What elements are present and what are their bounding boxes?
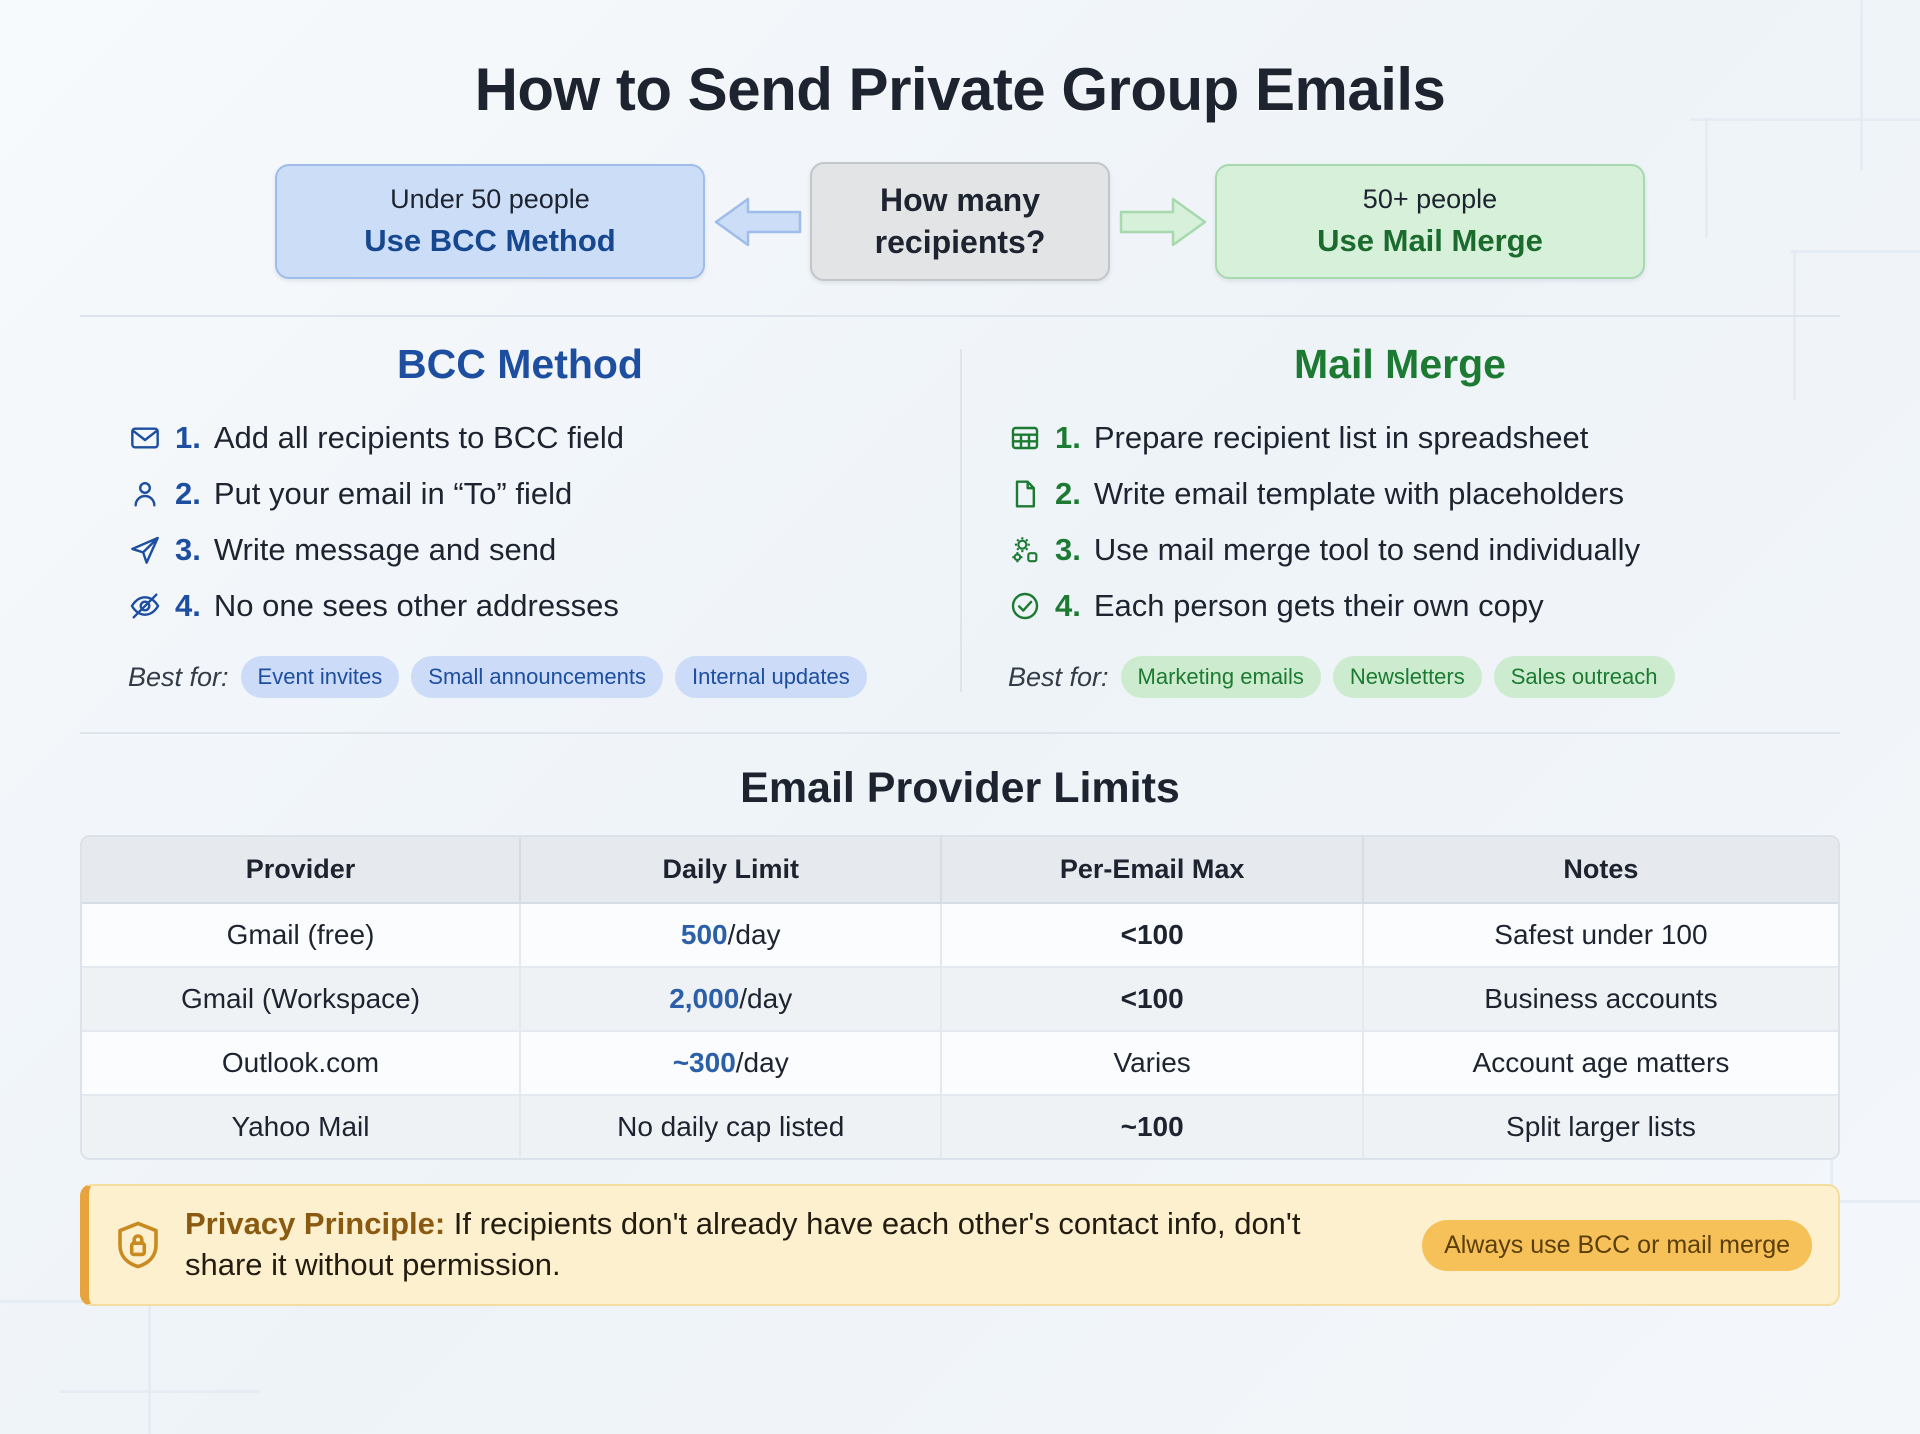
- divider-bottom: [80, 732, 1840, 734]
- cell-provider: Yahoo Mail: [82, 1096, 521, 1158]
- privacy-principle-lead: Privacy Principle:: [185, 1206, 445, 1241]
- privacy-principle-text: Privacy Principle: If recipients don't a…: [185, 1204, 1402, 1286]
- mailmerge-step-4-number: 4.: [1055, 588, 1081, 624]
- cell-provider: Gmail (Workspace): [82, 968, 521, 1032]
- bcc-step-3-number: 3.: [175, 532, 201, 568]
- mailmerge-step-1: 1. Prepare recipient list in spreadsheet: [1008, 410, 1818, 466]
- cell-notes: Split larger lists: [1364, 1096, 1838, 1158]
- gears-icon: [1008, 533, 1042, 567]
- document-icon: [1008, 477, 1042, 511]
- cell-per-email-max: Varies: [942, 1032, 1363, 1096]
- cell-daily-value: ~300: [673, 1047, 736, 1078]
- flow-option-bcc: Under 50 people Use BCC Method: [275, 164, 705, 278]
- methods-section: BCC Method 1. Add all recipients to BCC …: [80, 341, 1840, 698]
- table-header-row: Provider Daily Limit Per-Email Max Notes: [82, 837, 1838, 904]
- mailmerge-method-column: Mail Merge 1. Prepare recipient list in …: [960, 341, 1840, 698]
- flow-option-mailmerge-condition: 50+ people: [1243, 182, 1617, 217]
- methods-vertical-divider: [960, 349, 962, 692]
- envelope-icon: [128, 421, 162, 455]
- arrow-right-wrap: [1110, 192, 1215, 252]
- mailmerge-step-2: 2. Write email template with placeholder…: [1008, 466, 1818, 522]
- bcc-chip-1: Event invites: [241, 656, 400, 698]
- mailmerge-step-2-text: Write email template with placeholders: [1094, 476, 1624, 512]
- bcc-chip-2: Small announcements: [411, 656, 663, 698]
- flow-question-line1: How many: [838, 180, 1082, 222]
- bcc-step-1: 1. Add all recipients to BCC field: [128, 410, 938, 466]
- mailmerge-best-for: Best for: Marketing emails Newsletters S…: [982, 656, 1818, 698]
- table-header-per-email-max: Per-Email Max: [942, 837, 1363, 904]
- table-header: Provider Daily Limit Per-Email Max Notes: [82, 837, 1838, 904]
- mailmerge-chip-2: Newsletters: [1333, 656, 1482, 698]
- table-header-provider: Provider: [82, 837, 521, 904]
- send-icon: [128, 533, 162, 567]
- cell-daily-value: 2,000: [669, 983, 739, 1014]
- cell-daily-limit: ~300/day: [521, 1032, 942, 1096]
- table-header-daily-limit: Daily Limit: [521, 837, 942, 904]
- mailmerge-step-1-number: 1.: [1055, 420, 1081, 456]
- bcc-step-1-number: 1.: [175, 420, 201, 456]
- cell-daily-suffix: /day: [739, 983, 792, 1014]
- mailmerge-step-4: 4. Each person gets their own copy: [1008, 578, 1818, 634]
- table-header-notes: Notes: [1364, 837, 1838, 904]
- table-row: Gmail (Workspace) 2,000/day <100 Busines…: [82, 968, 1838, 1032]
- person-icon: [128, 477, 162, 511]
- shield-lock-icon: [111, 1218, 165, 1272]
- bcc-heading: BCC Method: [102, 341, 938, 388]
- cell-daily-suffix: /day: [736, 1047, 789, 1078]
- decorative-line: [60, 1390, 260, 1393]
- table-row: Gmail (free) 500/day <100 Safest under 1…: [82, 904, 1838, 968]
- flow-question-line2: recipients?: [838, 222, 1082, 264]
- cell-daily-limit: 2,000/day: [521, 968, 942, 1032]
- bcc-step-2: 2. Put your email in “To” field: [128, 466, 938, 522]
- bcc-step-4: 4. No one sees other addresses: [128, 578, 938, 634]
- flow-option-mailmerge: 50+ people Use Mail Merge: [1215, 164, 1645, 278]
- flow-question: How many recipients?: [810, 162, 1110, 281]
- cell-provider: Gmail (free): [82, 904, 521, 968]
- cell-daily-suffix: /day: [728, 919, 781, 950]
- arrow-left-icon: [710, 192, 806, 252]
- bcc-step-1-text: Add all recipients to BCC field: [214, 420, 624, 456]
- cell-daily-limit: 500/day: [521, 904, 942, 968]
- bcc-step-3-text: Write message and send: [214, 532, 556, 568]
- bcc-step-4-number: 4.: [175, 588, 201, 624]
- cell-per-email-max: <100: [942, 904, 1363, 968]
- bcc-chip-3: Internal updates: [675, 656, 867, 698]
- cell-daily-limit: No daily cap listed: [521, 1096, 942, 1158]
- arrow-right-icon: [1115, 192, 1211, 252]
- cell-notes: Safest under 100: [1364, 904, 1838, 968]
- cell-per-email-max: <100: [942, 968, 1363, 1032]
- flow-option-bcc-action: Use BCC Method: [303, 221, 677, 261]
- divider-top: [80, 315, 1840, 317]
- decision-flow: Under 50 people Use BCC Method How many …: [80, 162, 1840, 281]
- mailmerge-step-3-number: 3.: [1055, 532, 1081, 568]
- privacy-principle-banner: Privacy Principle: If recipients don't a…: [80, 1184, 1840, 1306]
- mailmerge-heading: Mail Merge: [982, 341, 1818, 388]
- provider-limits-table: Provider Daily Limit Per-Email Max Notes…: [80, 835, 1840, 1160]
- cell-notes: Business accounts: [1364, 968, 1838, 1032]
- cell-per-email-max: ~100: [942, 1096, 1363, 1158]
- cell-daily-value: 500: [681, 919, 728, 950]
- mailmerge-step-4-text: Each person gets their own copy: [1094, 588, 1544, 624]
- table-row: Outlook.com ~300/day Varies Account age …: [82, 1032, 1838, 1096]
- decorative-line: [148, 1300, 151, 1434]
- bcc-step-3: 3. Write message and send: [128, 522, 938, 578]
- bcc-method-column: BCC Method 1. Add all recipients to BCC …: [80, 341, 960, 698]
- eye-off-icon: [128, 589, 162, 623]
- mailmerge-step-2-number: 2.: [1055, 476, 1081, 512]
- infographic-page: How to Send Private Group Emails Under 5…: [0, 0, 1920, 1434]
- table-body: Gmail (free) 500/day <100 Safest under 1…: [82, 904, 1838, 1158]
- mailmerge-step-3-text: Use mail merge tool to send individually: [1094, 532, 1640, 568]
- mailmerge-step-1-text: Prepare recipient list in spreadsheet: [1094, 420, 1589, 456]
- privacy-principle-pill: Always use BCC or mail merge: [1422, 1220, 1812, 1271]
- page-title: How to Send Private Group Emails: [80, 0, 1840, 124]
- bcc-step-4-text: No one sees other addresses: [214, 588, 619, 624]
- cell-provider: Outlook.com: [82, 1032, 521, 1096]
- flow-option-mailmerge-action: Use Mail Merge: [1243, 221, 1617, 261]
- bcc-step-2-text: Put your email in “To” field: [214, 476, 572, 512]
- bcc-steps-list: 1. Add all recipients to BCC field 2. Pu…: [102, 410, 938, 634]
- bcc-best-for-label: Best for:: [128, 662, 229, 693]
- table-section-title: Email Provider Limits: [80, 764, 1840, 813]
- mailmerge-steps-list: 1. Prepare recipient list in spreadsheet…: [982, 410, 1818, 634]
- arrow-left-wrap: [705, 192, 810, 252]
- cell-notes: Account age matters: [1364, 1032, 1838, 1096]
- bcc-step-2-number: 2.: [175, 476, 201, 512]
- mailmerge-chip-1: Marketing emails: [1121, 656, 1321, 698]
- mailmerge-step-3: 3. Use mail merge tool to send individua…: [1008, 522, 1818, 578]
- mailmerge-best-for-label: Best for:: [1008, 662, 1109, 693]
- check-circle-icon: [1008, 589, 1042, 623]
- table-row: Yahoo Mail No daily cap listed ~100 Spli…: [82, 1096, 1838, 1158]
- flow-option-bcc-condition: Under 50 people: [303, 182, 677, 217]
- cell-daily-value: No daily cap listed: [617, 1111, 844, 1142]
- spreadsheet-icon: [1008, 421, 1042, 455]
- mailmerge-chip-3: Sales outreach: [1494, 656, 1675, 698]
- bcc-best-for: Best for: Event invites Small announceme…: [102, 656, 938, 698]
